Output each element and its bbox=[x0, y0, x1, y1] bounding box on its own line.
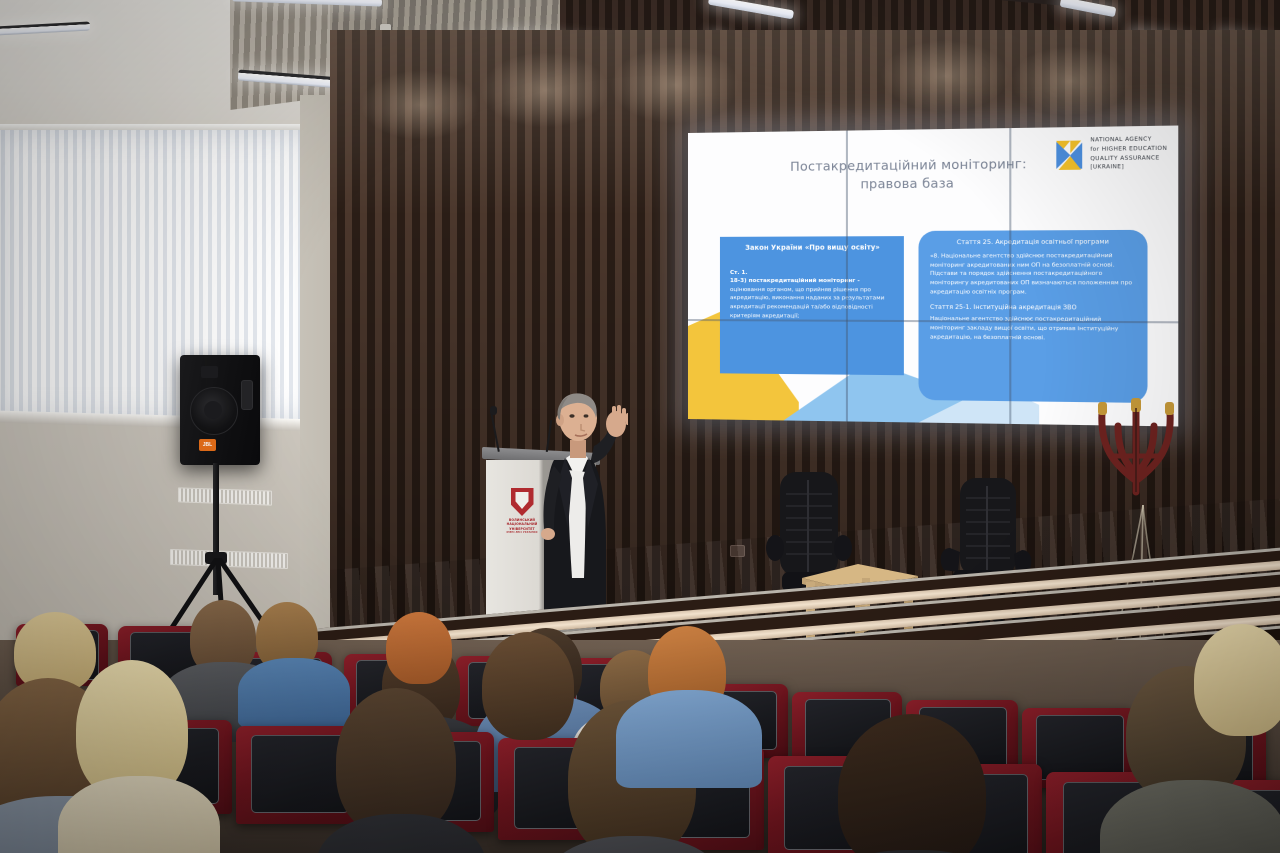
ukrainian-trident-emblem-icon bbox=[1088, 396, 1184, 516]
article-25-heading: Стаття 25. Акредитація освітньої програм… bbox=[930, 238, 1137, 246]
wall-light-pool-3 bbox=[610, 46, 740, 124]
loudspeaker-tweeter-icon bbox=[201, 366, 218, 378]
wall-light-pool-5 bbox=[1010, 46, 1130, 116]
crest-trident-icon bbox=[517, 494, 528, 507]
wall-light-pool-2 bbox=[480, 52, 610, 128]
audience-seating bbox=[0, 600, 1280, 853]
loudspeaker: JBL bbox=[180, 355, 260, 465]
loudspeaker-handle bbox=[241, 380, 253, 410]
wall-light-pool-1 bbox=[360, 70, 480, 140]
microphone-head-icon bbox=[490, 406, 497, 415]
conference-hall-photo: NATIONAL AGENCY for HIGHER EDUCATION QUA… bbox=[0, 0, 1280, 853]
presenter-person bbox=[528, 378, 628, 618]
law-card-heading: Закон України «Про вищу освіту» bbox=[730, 243, 896, 252]
loudspeaker-dustcap-icon bbox=[204, 401, 222, 419]
article-25-paragraph: «8. Національне агентство здійснює поста… bbox=[930, 252, 1137, 297]
slide-card-law: Закон України «Про вищу освіту» Ст. 1. 1… bbox=[720, 236, 904, 375]
audience-head-front-10 bbox=[236, 616, 306, 696]
slide-title: Постакредитаційний моніторинг: правова б… bbox=[688, 153, 1137, 195]
audience-head-front-4 bbox=[482, 632, 574, 740]
loudspeaker-brand-badge[interactable]: JBL bbox=[199, 439, 216, 451]
seat-pad bbox=[1036, 715, 1125, 779]
vertical-blinds bbox=[0, 130, 314, 420]
audience-head-front-8 bbox=[1194, 624, 1280, 736]
seat-pad bbox=[251, 735, 349, 813]
law-card-article: Ст. 1. bbox=[730, 269, 896, 278]
audience-shoulders-front-9 bbox=[616, 690, 762, 788]
slide-card-articles: Стаття 25. Акредитація освітньої програм… bbox=[919, 230, 1148, 403]
audience-head-4 bbox=[386, 612, 452, 684]
article-25-1-heading: Стаття 25-1. Інституційна акредитація ЗВ… bbox=[930, 304, 1137, 312]
presentation-slide: NATIONAL AGENCY for HIGHER EDUCATION QUA… bbox=[688, 125, 1178, 426]
video-wall-display[interactable]: NATIONAL AGENCY for HIGHER EDUCATION QUA… bbox=[688, 125, 1178, 426]
videowall-bezel-v1 bbox=[846, 131, 848, 422]
wall-light-pool-4 bbox=[880, 40, 1010, 112]
law-card-definition-body: оцінювання органом, що прийняв рішення п… bbox=[730, 286, 896, 322]
videowall-bezel-v2 bbox=[1009, 128, 1011, 424]
law-card-definition-lead: 18-3) постакредитаційний моніторинг - bbox=[730, 277, 896, 286]
slide-title-line-2: правова база bbox=[688, 172, 1137, 195]
